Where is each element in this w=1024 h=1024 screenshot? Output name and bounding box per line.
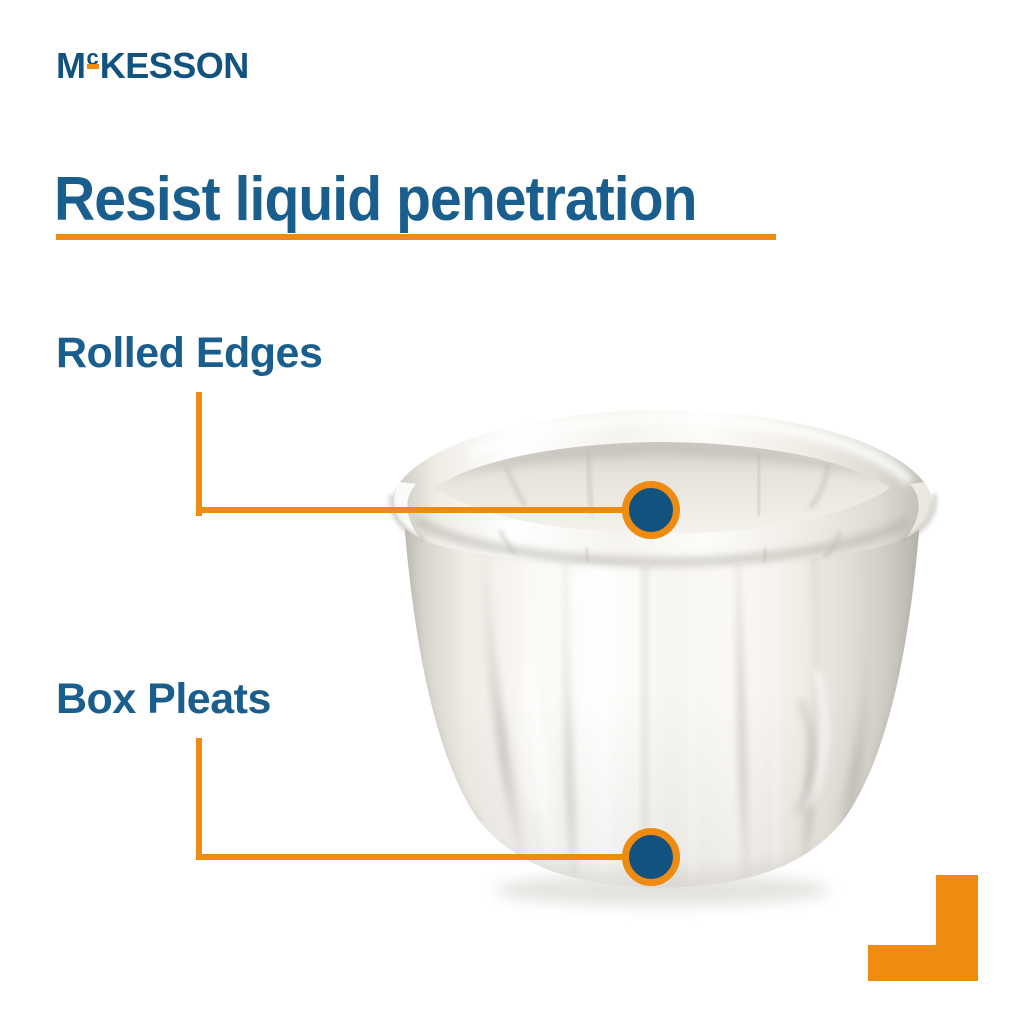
mckesson-logo: M c KESSON xyxy=(56,48,249,84)
logo-superscript-c-wrap: c xyxy=(87,48,99,70)
infographic-canvas: M c KESSON Resist liquid penetration xyxy=(0,0,1024,1024)
leader-horizontal-segment xyxy=(196,507,651,513)
hotspot-dot-box-pleats[interactable] xyxy=(622,828,680,886)
corner-bracket-decoration xyxy=(868,875,978,981)
leader-vertical-segment xyxy=(196,738,202,860)
page-title: Resist liquid penetration xyxy=(54,168,697,232)
callout-label-box-pleats: Box Pleats xyxy=(56,676,271,722)
leader-horizontal-segment xyxy=(196,854,651,860)
logo-text-kesson: KESSON xyxy=(100,48,249,84)
leader-vertical-segment xyxy=(196,392,202,516)
callout-label-rolled-edges: Rolled Edges xyxy=(56,330,322,376)
hotspot-dot-rolled-edges[interactable] xyxy=(622,481,680,539)
logo-text-m: M xyxy=(56,48,86,84)
headline-underline-rule xyxy=(56,234,776,240)
logo-orange-underbar xyxy=(87,64,99,69)
